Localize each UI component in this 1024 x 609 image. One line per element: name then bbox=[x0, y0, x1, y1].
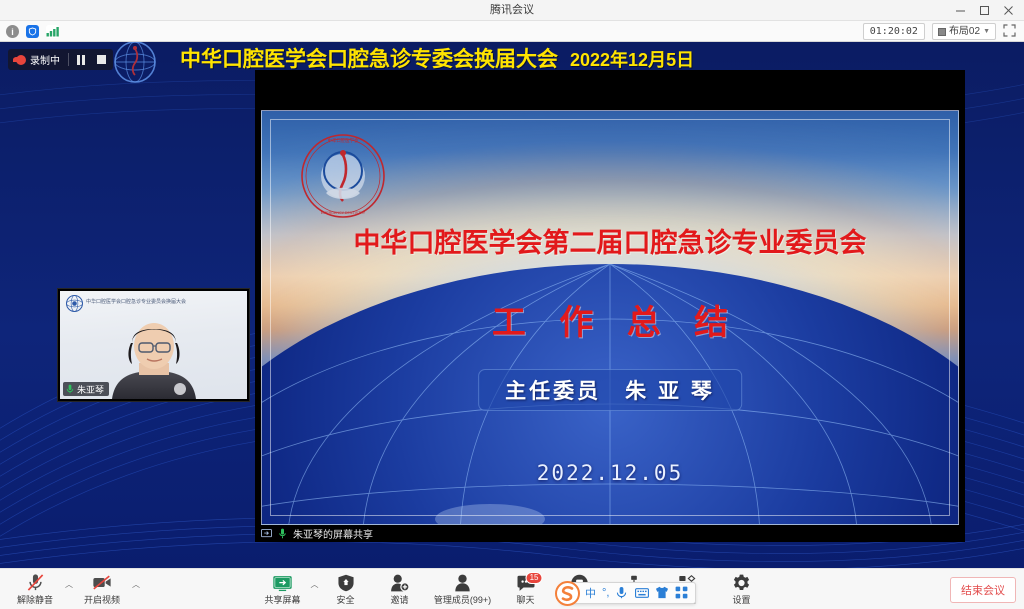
sogou-logo-icon[interactable] bbox=[554, 580, 581, 607]
fullscreen-button[interactable] bbox=[1003, 24, 1018, 39]
skin-shirt-icon[interactable] bbox=[655, 586, 669, 600]
end-meeting-button[interactable]: 结束会议 bbox=[950, 577, 1016, 603]
share-screen-button[interactable]: 共享屏幕 bbox=[256, 570, 310, 609]
share-options-caret-icon[interactable]: ︿ bbox=[311, 579, 319, 590]
ime-apps-icon[interactable] bbox=[675, 586, 689, 600]
chat-button[interactable]: 15 聊天 bbox=[499, 570, 553, 609]
layout-label: 布局02 bbox=[949, 25, 980, 38]
participant-person-image bbox=[95, 315, 213, 399]
control-bar-left: 解除静音 ︿ 开启视频 ︿ bbox=[8, 569, 140, 609]
chat-unread-badge: 15 bbox=[526, 572, 543, 584]
info-icon[interactable]: i bbox=[6, 25, 19, 38]
security-button[interactable]: 安全 bbox=[319, 570, 373, 609]
stop-icon bbox=[97, 55, 106, 64]
recording-label: 录制中 bbox=[30, 52, 60, 67]
slide-presenter: 主任委员 朱 亚 琴 bbox=[505, 380, 715, 403]
shared-screen-area[interactable]: 中华口腔医学会 EMERGENCY DENTISTRY 中华口腔医学会第二届口腔… bbox=[255, 70, 965, 542]
manage-members-icon bbox=[454, 573, 472, 592]
video-options-caret-icon[interactable]: ︿ bbox=[132, 579, 140, 590]
video-toggle-label: 开启视频 bbox=[84, 593, 120, 606]
video-toggle-button[interactable]: 开启视频 bbox=[75, 570, 129, 609]
slide-date: 2022.12.05 bbox=[262, 461, 958, 485]
microphone-muted-icon bbox=[26, 573, 45, 592]
keyboard-icon[interactable] bbox=[635, 586, 649, 600]
banner-title: 中华口腔医学会口腔急诊专委会换届大会 bbox=[180, 48, 558, 71]
microphone-icon bbox=[277, 528, 288, 539]
cn-stomatological-logo-icon bbox=[66, 295, 83, 312]
meeting-control-bar: 解除静音 ︿ 开启视频 ︿ bbox=[0, 568, 1024, 609]
chat-label: 聊天 bbox=[516, 593, 534, 606]
participant-video-feed: 中华口腔医学会口腔急诊专业委员会换届大会 bbox=[60, 291, 247, 399]
share-screen-label: 共享屏幕 bbox=[264, 593, 300, 606]
settings-label: 设置 bbox=[732, 593, 750, 606]
window-title-bar: 腾讯会议 bbox=[0, 0, 1024, 21]
banner-title-group: 中华口腔医学会口腔急诊专委会换届大会2022年12月5日 bbox=[180, 43, 694, 73]
pause-icon bbox=[77, 55, 85, 65]
participant-name-badge: 朱亚琴 bbox=[63, 382, 109, 396]
association-emblem-icon: 中华口腔医学会 EMERGENCY DENTISTRY bbox=[300, 133, 386, 219]
stop-recording-button[interactable] bbox=[91, 49, 111, 70]
meeting-info-bar: i 01:20:02 布局02 ▼ bbox=[0, 21, 1024, 42]
divider bbox=[68, 53, 69, 66]
svg-text:EMERGENCY DENTISTRY: EMERGENCY DENTISTRY bbox=[321, 211, 366, 215]
recording-indicator: 录制中 bbox=[8, 49, 113, 70]
participant-name: 朱亚琴 bbox=[77, 383, 104, 396]
maximize-button[interactable] bbox=[972, 0, 996, 21]
window-controls bbox=[948, 0, 1020, 21]
presentation-slide: 中华口腔医学会 EMERGENCY DENTISTRY 中华口腔医学会第二届口腔… bbox=[261, 110, 959, 525]
layout-icon bbox=[938, 28, 946, 36]
shield-icon[interactable] bbox=[26, 25, 39, 38]
camera-off-icon bbox=[92, 573, 112, 592]
audio-options-caret-icon[interactable]: ︿ bbox=[65, 579, 73, 590]
association-logo-icon bbox=[105, 42, 165, 85]
window-title: 腾讯会议 bbox=[0, 0, 1024, 21]
chevron-down-icon: ▼ bbox=[983, 25, 990, 38]
control-bar-right: 结束会议 bbox=[950, 569, 1016, 609]
invite-person-icon bbox=[390, 573, 409, 592]
minimize-button[interactable] bbox=[948, 0, 972, 21]
tencent-meeting-window: 腾讯会议 i bbox=[0, 0, 1024, 609]
meeting-info-right: 01:20:02 布局02 ▼ bbox=[863, 21, 1018, 42]
layout-selector[interactable]: 布局02 ▼ bbox=[932, 23, 996, 40]
invite-button[interactable]: 邀请 bbox=[373, 570, 427, 609]
screen-share-icon bbox=[261, 528, 272, 539]
mute-toggle-button[interactable]: 解除静音 bbox=[8, 570, 62, 609]
record-dot-icon bbox=[16, 55, 26, 65]
participant-video-tile[interactable]: 中华口腔医学会口腔急诊专业委员会换届大会 bbox=[57, 288, 250, 402]
slide-presenter-box: 主任委员 朱 亚 琴 bbox=[478, 369, 742, 411]
settings-button[interactable]: 设置 bbox=[715, 570, 769, 609]
meeting-canvas: 录制中 中华口腔医学会口腔急诊专委会换届大会2022年12月5日 bbox=[0, 42, 1024, 568]
ime-punctuation-toggle[interactable]: °, bbox=[602, 587, 609, 599]
security-shield-icon bbox=[337, 573, 354, 592]
meeting-timer: 01:20:02 bbox=[863, 23, 925, 40]
event-banner: 中华口腔医学会口腔急诊专委会换届大会2022年12月5日 bbox=[0, 42, 1024, 76]
signal-icon[interactable] bbox=[46, 25, 59, 38]
share-screen-icon bbox=[273, 573, 293, 592]
banner-date: 2022年12月5日 bbox=[570, 50, 694, 70]
manage-members-button[interactable]: 管理成员(99+) bbox=[427, 570, 499, 609]
pause-recording-button[interactable] bbox=[71, 49, 91, 70]
security-label: 安全 bbox=[336, 593, 354, 606]
mute-toggle-label: 解除静音 bbox=[17, 593, 53, 606]
slide-subtitle: 工 作 总 结 bbox=[262, 295, 958, 344]
meeting-info-left: i bbox=[6, 21, 59, 42]
invite-label: 邀请 bbox=[390, 593, 408, 606]
video-overlay-text: 中华口腔医学会口腔急诊专业委员会换届大会 bbox=[86, 298, 186, 305]
gear-icon bbox=[733, 573, 751, 592]
share-footer-bar: 朱亚琴的屏幕共享 bbox=[255, 525, 965, 542]
microphone-icon bbox=[66, 384, 74, 394]
ime-mode-toggle[interactable]: 中 bbox=[585, 585, 596, 601]
close-button[interactable] bbox=[996, 0, 1020, 21]
manage-members-label: 管理成员(99+) bbox=[434, 593, 491, 606]
recording-status: 录制中 bbox=[10, 52, 66, 67]
microphone-icon[interactable] bbox=[615, 586, 629, 600]
slide-title: 中华口腔医学会第二届口腔急诊专业委员会 bbox=[262, 221, 958, 260]
svg-text:中华口腔医学会: 中华口腔医学会 bbox=[328, 137, 359, 144]
sogou-ime-bar[interactable]: 中 °, bbox=[560, 582, 696, 604]
share-footer-text: 朱亚琴的屏幕共享 bbox=[293, 526, 373, 541]
